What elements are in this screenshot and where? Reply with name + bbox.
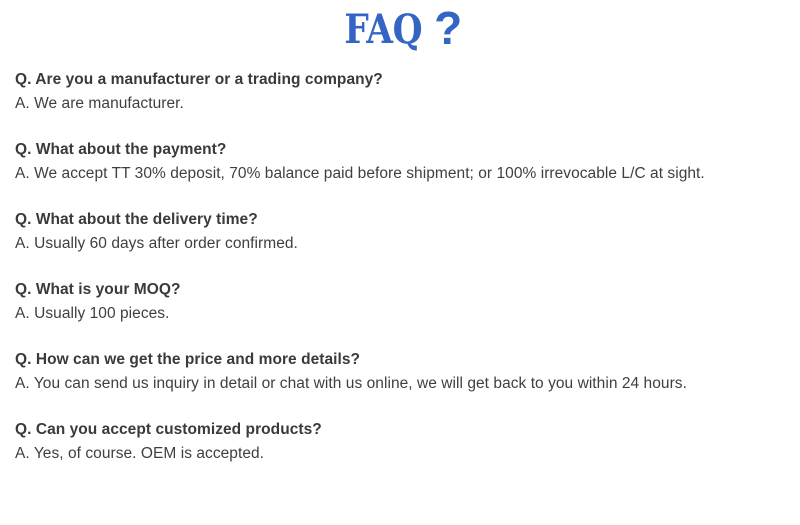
faq-item: Q. What about the delivery time? A. Usua… — [15, 208, 790, 256]
faq-item: Q. What about the payment? A. We accept … — [15, 138, 790, 186]
faq-question: Q. What about the delivery time? — [15, 208, 790, 232]
page-title: FAQ? — [0, 4, 800, 50]
faq-item: Q. How can we get the price and more det… — [15, 348, 790, 396]
faq-item: Q. Are you a manufacturer or a trading c… — [15, 68, 790, 116]
faq-title-word: FAQ — [344, 10, 422, 50]
faq-answer: A. We are manufacturer. — [15, 92, 790, 116]
faq-question: Q. What about the payment? — [15, 138, 790, 162]
faq-question: Q. Can you accept customized products? — [15, 418, 790, 442]
question-mark-icon: ? — [434, 5, 462, 51]
faq-item: Q. What is your MOQ? A. Usually 100 piec… — [15, 278, 790, 326]
faq-question: Q. How can we get the price and more det… — [15, 348, 790, 372]
faq-answer: A. Yes, of course. OEM is accepted. — [15, 442, 790, 466]
faq-answer: A. Usually 100 pieces. — [15, 302, 790, 326]
faq-question: Q. What is your MOQ? — [15, 278, 790, 302]
faq-answer: A. You can send us inquiry in detail or … — [15, 372, 790, 396]
faq-item: Q. Can you accept customized products? A… — [15, 418, 790, 466]
faq-question: Q. Are you a manufacturer or a trading c… — [15, 68, 790, 92]
faq-list: Q. Are you a manufacturer or a trading c… — [15, 68, 790, 466]
faq-answer: A. Usually 60 days after order confirmed… — [15, 232, 790, 256]
faq-answer: A. We accept TT 30% deposit, 70% balance… — [15, 162, 790, 186]
